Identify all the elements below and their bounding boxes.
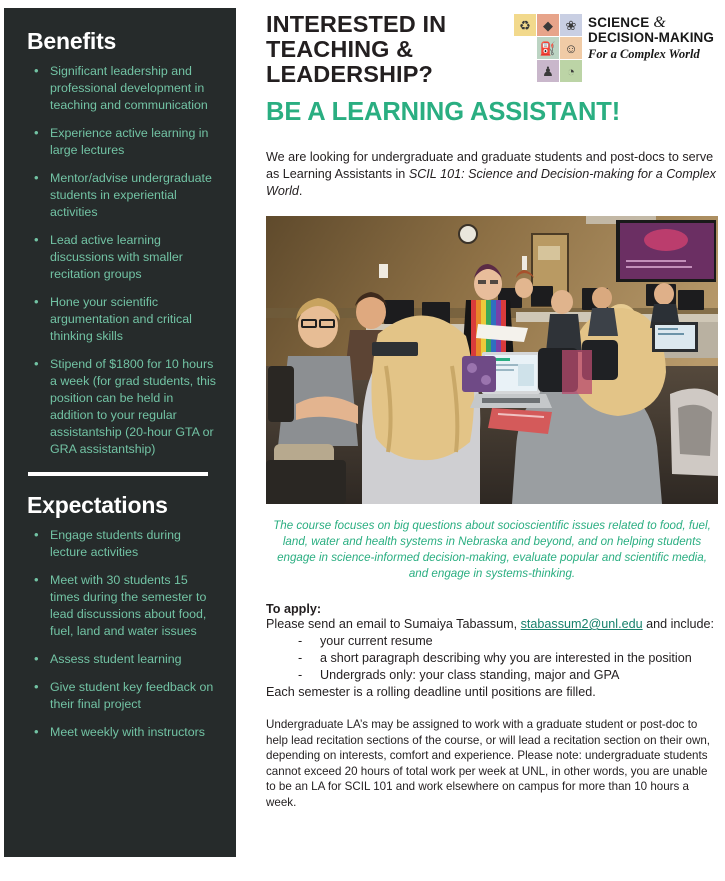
sidebar-divider bbox=[28, 472, 208, 476]
water-drop-icon: ◆ bbox=[537, 14, 559, 36]
fuel-pump-icon: ⛽ bbox=[537, 37, 559, 59]
expectations-list: Engage students during lecture activitie… bbox=[22, 527, 218, 741]
recycle-arrows-icon: ♻ bbox=[514, 14, 536, 36]
benefits-expectations-sidebar: Benefits Significant leadership and prof… bbox=[4, 8, 236, 857]
list-item: Undergrads only: your class standing, ma… bbox=[298, 667, 718, 684]
intro-text-part2: . bbox=[299, 184, 303, 198]
list-item: Engage students during lecture activitie… bbox=[28, 527, 218, 561]
deadline-text: Each semester is a rolling deadline unti… bbox=[266, 684, 718, 701]
list-item: Mentor/advise undergraduate students in … bbox=[28, 170, 218, 221]
list-item: Stipend of $1800 for 10 hours a week (fo… bbox=[28, 356, 218, 458]
benefits-list: Significant leadership and professional … bbox=[22, 63, 218, 458]
apply-instruction-line: Please send an email to Sumaiya Tabassum… bbox=[266, 616, 718, 633]
people-group-icon: ♟ bbox=[537, 60, 559, 82]
title-block: INTERESTED IN TEACHING & LEADERSHIP? bbox=[266, 8, 446, 87]
page-title-line1: INTERESTED IN bbox=[266, 12, 446, 37]
page-subtitle: BE A LEARNING ASSISTANT! bbox=[266, 98, 718, 127]
logo-line-science: SCIENCE & bbox=[588, 15, 714, 30]
page-title-line2: TEACHING & bbox=[266, 37, 446, 62]
list-item: Meet weekly with instructors bbox=[28, 724, 218, 741]
apply-text-after-email: and include: bbox=[643, 617, 714, 631]
list-item: Assess student learning bbox=[28, 651, 218, 668]
blank-cell bbox=[514, 37, 536, 59]
logo-wordmark: SCIENCE & DECISION-MAKING For a Complex … bbox=[588, 14, 714, 62]
blank-cell bbox=[514, 60, 536, 82]
logo-line-tagline: For a Complex World bbox=[588, 46, 714, 62]
apply-text-before-email: Please send an email to Sumaiya Tabassum… bbox=[266, 617, 521, 631]
list-item: Give student key feedback on their final… bbox=[28, 679, 218, 713]
science-decision-making-logo: ♻ ◆ ❀ ⛽ ☺ ♟ ◔ SCIENCE & DECISION-MAKING … bbox=[514, 14, 714, 82]
logo-icon-grid: ♻ ◆ ❀ ⛽ ☺ ♟ ◔ bbox=[514, 14, 582, 82]
list-item: Experience active learning in large lect… bbox=[28, 125, 218, 159]
list-item: Significant leadership and professional … bbox=[28, 63, 218, 114]
classroom-photo-graphic bbox=[266, 216, 718, 504]
list-item: a short paragraph describing why you are… bbox=[298, 650, 718, 667]
list-item: Lead active learning discussions with sm… bbox=[28, 232, 218, 283]
benefits-heading: Benefits bbox=[27, 28, 218, 55]
photo-caption: The course focuses on big questions abou… bbox=[266, 518, 718, 582]
list-item: Meet with 30 students 15 times during th… bbox=[28, 572, 218, 640]
butterfly-icon: ❀ bbox=[560, 14, 582, 36]
logo-ampersand: & bbox=[653, 14, 666, 31]
head-profile-icon: ☺ bbox=[560, 37, 582, 59]
page-title-line3: LEADERSHIP? bbox=[266, 62, 446, 87]
email-link[interactable]: stabassum2@unl.edu bbox=[521, 617, 643, 631]
hand-globe-icon: ◔ bbox=[560, 60, 582, 82]
header-row: INTERESTED IN TEACHING & LEADERSHIP? ♻ ◆… bbox=[266, 8, 718, 87]
classroom-photo bbox=[266, 216, 718, 504]
main-content: INTERESTED IN TEACHING & LEADERSHIP? ♻ ◆… bbox=[266, 8, 718, 822]
intro-paragraph: We are looking for undergraduate and gra… bbox=[266, 149, 718, 200]
closing-paragraph: Undergraduate LA’s may be assigned to wo… bbox=[266, 717, 718, 810]
list-item: your current resume bbox=[298, 633, 718, 650]
apply-requirements-list: your current resume a short paragraph de… bbox=[266, 633, 718, 684]
logo-science-text: SCIENCE bbox=[588, 15, 649, 30]
logo-line-decision-making: DECISION-MAKING bbox=[588, 30, 714, 46]
list-item: Hone your scientific argumentation and c… bbox=[28, 294, 218, 345]
expectations-heading: Expectations bbox=[27, 492, 218, 519]
to-apply-heading: To apply: bbox=[266, 602, 718, 616]
